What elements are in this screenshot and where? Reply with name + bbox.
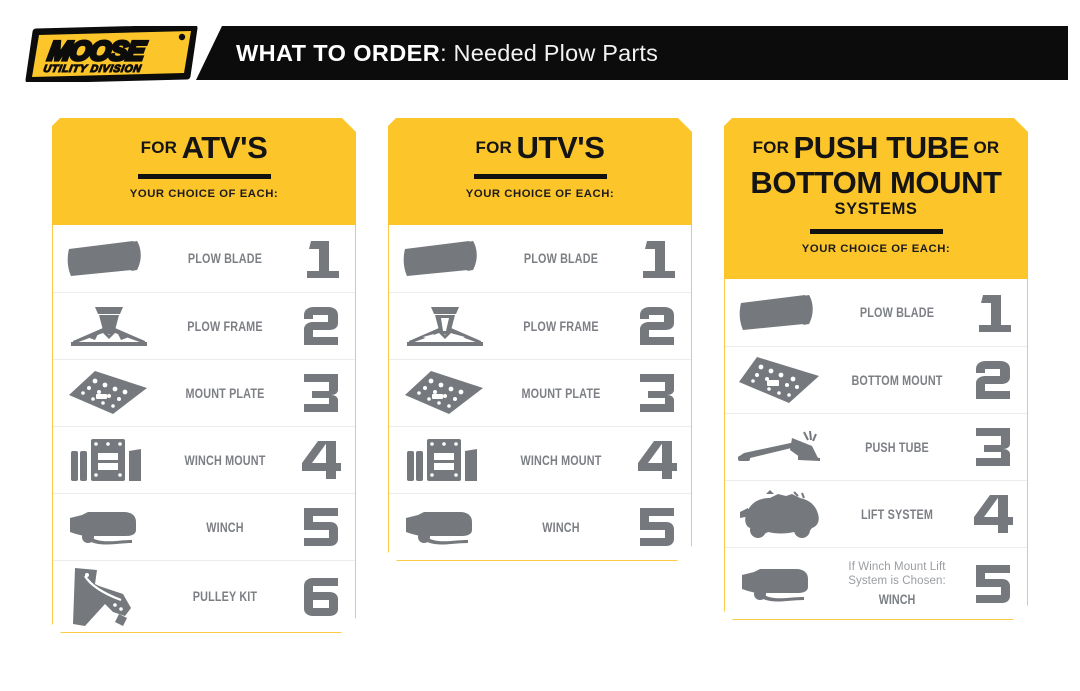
for-label: FOR	[753, 138, 789, 157]
list-item-label: PLOW FRAME	[511, 319, 610, 334]
list-item[interactable]: WINCH MOUNT 4	[53, 426, 355, 493]
card-utv: FOR UTV'S YOUR CHOICE OF EACH: PLOW BLAD…	[388, 118, 692, 561]
plow-blade-icon	[725, 293, 835, 333]
card-utv-body: PLOW BLADE 1 PLOW FRAME	[388, 225, 692, 561]
page-header: MOOSE UTILITY DIVISION WHAT TO ORDER : N…	[0, 0, 1080, 100]
list-item-label: WINCH MOUNT	[511, 453, 610, 468]
winch-mount-icon	[53, 435, 163, 485]
list-item-label: PUSH TUBE	[847, 440, 946, 455]
card-atv-heading: ATV'S	[182, 130, 268, 165]
plow-frame-icon	[53, 304, 163, 348]
list-item-number: 3	[623, 371, 691, 415]
choice-label: YOUR CHOICE OF EACH:	[724, 243, 1028, 265]
list-item[interactable]: BOTTOM MOUNT 2	[725, 346, 1027, 413]
list-item[interactable]: PULLEY KIT 6	[53, 560, 355, 632]
list-item[interactable]: MOUNT PLATE 3	[53, 359, 355, 426]
plow-frame-icon	[389, 304, 499, 348]
header-banner: WHAT TO ORDER : Needed Plow Parts	[196, 26, 1068, 80]
list-item[interactable]: PLOW BLADE 1	[389, 225, 691, 292]
list-item[interactable]: If Winch Mount Lift System is Chosen: WI…	[725, 547, 1027, 619]
list-item[interactable]: PLOW BLADE 1	[53, 225, 355, 292]
card-atv-header: FOR ATV'S YOUR CHOICE OF EACH:	[52, 118, 356, 225]
note-line-2: System is Chosen:	[835, 574, 959, 588]
list-item[interactable]: PLOW FRAME 2	[53, 292, 355, 359]
mount-plate-icon	[389, 369, 499, 417]
list-item-number: 3	[287, 371, 355, 415]
plow-blade-icon	[53, 239, 163, 279]
card-bottom-mount-heading: BOTTOM MOUNT	[750, 165, 1001, 200]
list-item[interactable]: LIFT SYSTEM 4	[725, 480, 1027, 547]
card-utv-heading: UTV'S	[516, 130, 604, 165]
list-item-note: If Winch Mount Lift System is Chosen: WI…	[835, 560, 959, 607]
list-item[interactable]: PLOW FRAME 2	[389, 292, 691, 359]
list-item-label: PLOW BLADE	[847, 305, 946, 320]
list-item-number: 2	[287, 304, 355, 348]
list-item-label: MOUNT PLATE	[175, 386, 274, 401]
page-title: WHAT TO ORDER	[236, 40, 440, 67]
winch-icon	[389, 506, 499, 548]
list-item-number: 3	[959, 425, 1027, 469]
card-atv: FOR ATV'S YOUR CHOICE OF EACH: PLOW BLAD…	[52, 118, 356, 633]
svg-text:MOOSE: MOOSE	[46, 35, 149, 66]
winch-mount-icon	[389, 435, 499, 485]
list-item-number: 2	[623, 304, 691, 348]
list-item-label: WINCH	[847, 592, 946, 607]
list-item-number: 5	[959, 562, 1027, 606]
list-item-number: 1	[623, 237, 691, 281]
card-push-tube: FOR PUSH TUBE OR BOTTOM MOUNT SYSTEMS YO…	[724, 118, 1028, 620]
list-item-number: 5	[623, 505, 691, 549]
list-item[interactable]: WINCH 5	[389, 493, 691, 560]
pulley-kit-icon	[53, 564, 163, 630]
list-item[interactable]: PUSH TUBE 3	[725, 413, 1027, 480]
winch-icon	[725, 563, 835, 605]
note-line-1: If Winch Mount Lift	[835, 560, 959, 574]
or-label: OR	[974, 138, 1000, 157]
header-divider	[474, 174, 607, 179]
list-item-label: PULLEY KIT	[175, 589, 274, 604]
choice-label: YOUR CHOICE OF EACH:	[52, 188, 356, 210]
card-systems-heading: SYSTEMS	[724, 201, 1028, 218]
list-item-label: BOTTOM MOUNT	[847, 373, 946, 388]
list-item-label: MOUNT PLATE	[511, 386, 610, 401]
list-item-number: 1	[959, 291, 1027, 335]
list-item-number: 4	[959, 492, 1027, 536]
list-item-label: PLOW BLADE	[175, 251, 274, 266]
push-tube-icon	[725, 426, 835, 468]
list-item-number: 6	[287, 575, 355, 619]
list-item-label: WINCH	[511, 520, 610, 535]
page-subtitle: : Needed Plow Parts	[440, 40, 658, 67]
plow-blade-icon	[389, 239, 499, 279]
bottom-mount-icon	[725, 354, 835, 406]
list-item-number: 5	[287, 505, 355, 549]
list-item-number: 4	[287, 438, 355, 482]
list-item-label: PLOW BLADE	[511, 251, 610, 266]
header-divider	[138, 174, 271, 179]
card-utv-header: FOR UTV'S YOUR CHOICE OF EACH:	[388, 118, 692, 225]
list-item-number: 1	[287, 237, 355, 281]
for-label: FOR	[141, 138, 177, 157]
winch-icon	[53, 506, 163, 548]
svg-text:UTILITY DIVISION: UTILITY DIVISION	[42, 63, 142, 75]
choice-label: YOUR CHOICE OF EACH:	[388, 188, 692, 210]
for-label: FOR	[476, 138, 512, 157]
card-push-tube-heading: PUSH TUBE	[794, 130, 970, 165]
list-item-number: 2	[959, 358, 1027, 402]
list-item-label: LIFT SYSTEM	[847, 507, 946, 522]
list-item[interactable]: WINCH 5	[53, 493, 355, 560]
list-item-label: WINCH	[175, 520, 274, 535]
card-push-tube-header: FOR PUSH TUBE OR BOTTOM MOUNT SYSTEMS YO…	[724, 118, 1028, 279]
card-atv-body: PLOW BLADE 1 PLOW	[52, 225, 356, 633]
card-push-tube-body: PLOW BLADE 1	[724, 279, 1028, 620]
list-item-number: 4	[623, 438, 691, 482]
list-item[interactable]: MOUNT PLATE 3	[389, 359, 691, 426]
mount-plate-icon	[53, 369, 163, 417]
list-item[interactable]: WINCH MOUNT 4	[389, 426, 691, 493]
header-divider	[810, 229, 943, 234]
list-item[interactable]: PLOW BLADE 1	[725, 279, 1027, 346]
list-item-label: PLOW FRAME	[175, 319, 274, 334]
lift-system-icon	[725, 488, 835, 540]
moose-utility-division-logo: MOOSE UTILITY DIVISION	[22, 26, 198, 82]
list-item-label: WINCH MOUNT	[175, 453, 274, 468]
